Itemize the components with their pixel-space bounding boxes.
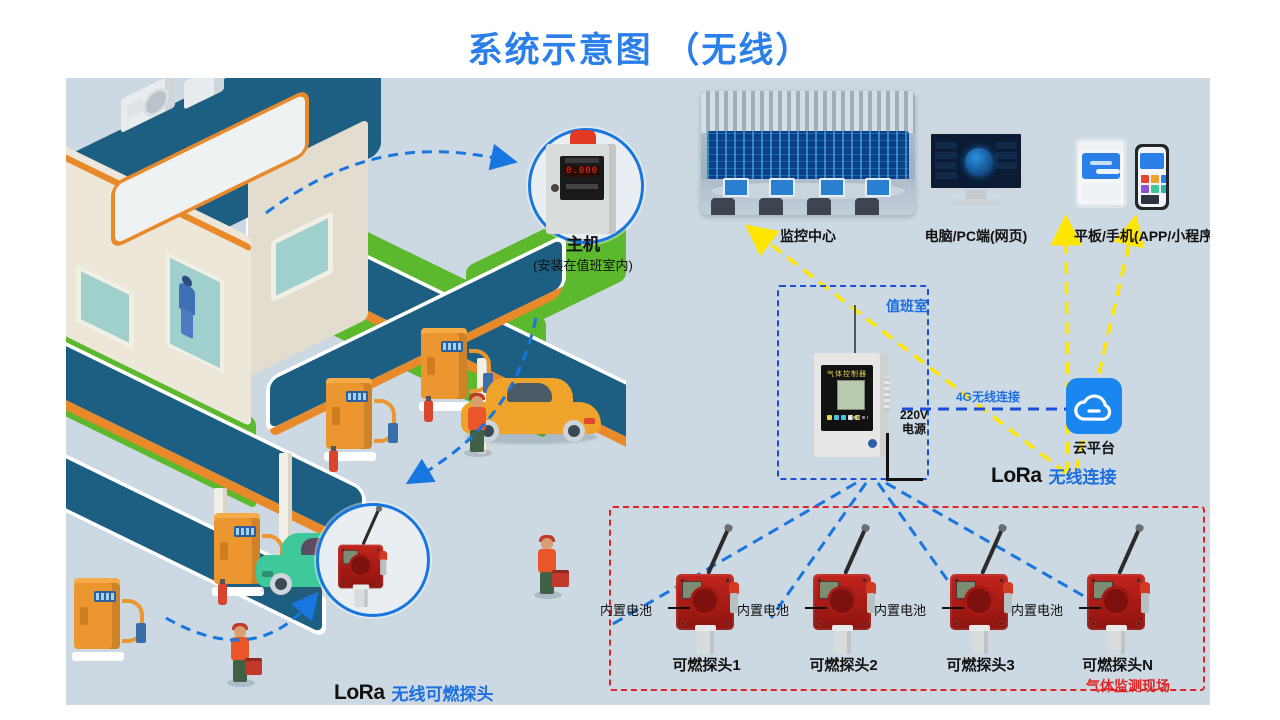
dashboard-card xyxy=(935,162,957,169)
host-panel: 0.000 xyxy=(560,156,604,200)
pump-body xyxy=(326,383,372,449)
detector-enclosure xyxy=(950,574,1008,630)
dashboard-card xyxy=(935,172,957,179)
controller-lcd xyxy=(837,380,865,410)
controller-front-panel: 气体控制器 xyxy=(821,365,873,431)
alarm-beacon-icon xyxy=(570,130,596,145)
technician-walking-bottom xyxy=(229,626,251,682)
lora-link-brand: LoRa xyxy=(991,464,1042,488)
tablet-hero-card xyxy=(1082,153,1120,179)
controller-enclosure: 气体控制器 xyxy=(814,353,888,457)
operator-monitor xyxy=(819,178,845,197)
detector-sensor-ring xyxy=(1101,586,1131,616)
dashboard-card xyxy=(935,152,957,159)
detector-screw xyxy=(1091,578,1096,583)
detector-screw xyxy=(376,581,380,585)
detector-screw xyxy=(680,621,685,626)
operator-chair xyxy=(807,198,831,215)
host-led-display: 0.000 xyxy=(564,166,600,177)
technician-walking-right xyxy=(536,538,558,594)
detector-sensor-ring xyxy=(690,586,720,616)
detector-enclosure xyxy=(1087,574,1145,630)
detector-screw xyxy=(341,581,345,585)
pc-monitor-image xyxy=(928,131,1024,209)
battery-label-3: 内置电池 xyxy=(874,600,926,619)
detector-screw xyxy=(954,578,959,583)
detector-screw xyxy=(680,578,685,583)
detector-1 xyxy=(676,568,738,660)
operator-monitor xyxy=(723,178,749,197)
detector-screw xyxy=(999,621,1004,626)
phone-banner xyxy=(1140,153,1164,169)
power-cable xyxy=(886,433,923,481)
pump-slot xyxy=(427,357,435,375)
detector-sensor-tube xyxy=(971,628,988,654)
pump-body xyxy=(214,518,260,584)
field-detector-lora-mark: LoRa 无线可燃探头 xyxy=(334,680,494,705)
worker-legs xyxy=(470,430,484,452)
app-tile xyxy=(1161,175,1166,183)
monitoring-center-image xyxy=(701,91,915,215)
pump-nozzle xyxy=(388,423,398,443)
pump-base xyxy=(72,652,124,661)
battery-leader-line-2 xyxy=(805,607,827,609)
detector-sensor-tube xyxy=(1108,628,1125,654)
cloud-glyph xyxy=(1073,390,1115,422)
pump-body xyxy=(74,583,120,649)
host-button-row[interactable] xyxy=(566,184,598,189)
site-label: 气体监测现场 xyxy=(1086,676,1170,696)
operator-monitor xyxy=(865,178,891,197)
controller-button-row[interactable] xyxy=(852,416,868,419)
detector-screw xyxy=(1136,621,1141,626)
pump-slot xyxy=(220,542,228,560)
pc-web-label: 电脑/PC端(网页) xyxy=(911,226,1041,246)
detector-enclosure xyxy=(338,545,383,589)
phone-image xyxy=(1135,144,1169,210)
fuel-pump-1 xyxy=(326,383,384,455)
detector-alarm-horn xyxy=(379,551,388,576)
pump-nozzle xyxy=(136,623,146,643)
detector-sensor-ring xyxy=(964,586,994,616)
detector-n-label: 可燃探头N xyxy=(1065,654,1170,675)
arrow-cloud-to-mobile xyxy=(1076,228,1133,471)
ac-vent xyxy=(127,97,143,119)
cloud-platform-icon xyxy=(1066,378,1122,434)
detector-alarm-horn xyxy=(1139,582,1151,614)
detector-screw xyxy=(954,621,959,626)
ceiling-lights xyxy=(701,91,915,133)
detector-3 xyxy=(950,568,1012,660)
detector-screw xyxy=(341,548,345,552)
operator-chair xyxy=(759,198,783,215)
detector-3-label: 可燃探头3 xyxy=(928,654,1033,675)
attendant-at-pump xyxy=(466,396,488,452)
horn-stem xyxy=(1141,593,1149,613)
app-tile xyxy=(1141,185,1149,193)
fire-extinguisher-3 xyxy=(218,583,227,605)
host-sub-label: (安装在值班室内) xyxy=(503,255,663,274)
battery-leader-line-n xyxy=(1079,607,1101,609)
detector-screw xyxy=(1091,621,1096,626)
controller-title: 气体控制器 xyxy=(827,369,867,379)
dashboard-card xyxy=(995,152,1017,159)
host-caption: 主机 (安装在值班室内) xyxy=(503,230,663,274)
fuel-pump-4 xyxy=(74,583,132,655)
power-source: 电源 xyxy=(902,422,926,436)
operator-chair xyxy=(855,198,879,215)
pc-screen xyxy=(928,131,1024,191)
duty-room-label: 值班室 xyxy=(886,296,928,316)
host-controller: 0.000 xyxy=(546,142,622,234)
app-tile xyxy=(1151,185,1159,193)
pump-display xyxy=(94,591,116,602)
pump-display xyxy=(441,341,463,352)
horn-stem xyxy=(380,560,386,576)
pump-display xyxy=(234,526,256,537)
tablet-list-card xyxy=(1082,183,1120,201)
host-enclosure: 0.000 xyxy=(546,144,616,234)
app-tile xyxy=(1151,175,1159,183)
detector-screw xyxy=(817,578,822,583)
battery-leader-line-3 xyxy=(942,607,964,609)
detector-sensor-ring xyxy=(349,554,372,577)
lora-brand-text: LoRa xyxy=(334,681,385,705)
car-taillight xyxy=(584,418,595,424)
dashboard-card xyxy=(995,142,1017,149)
worker-toolbox xyxy=(245,658,262,675)
battery-label-2: 内置电池 xyxy=(737,600,789,619)
diagram-root: 系统示意图 （无线） xyxy=(0,0,1280,720)
app-tile xyxy=(1141,175,1149,183)
detector-sensor-tube xyxy=(354,587,367,607)
battery-label-n: 内置电池 xyxy=(1011,600,1063,619)
detector-screw xyxy=(862,621,867,626)
gas-controller: 气体控制器 xyxy=(814,353,894,457)
detector-2 xyxy=(813,568,875,660)
dashboard-card xyxy=(995,162,1017,169)
controller-vent-fins xyxy=(884,377,890,411)
app-tile xyxy=(1141,195,1159,204)
store-customer xyxy=(178,272,195,340)
battery-label-1: 内置电池 xyxy=(600,600,652,619)
customer-legs xyxy=(181,307,193,339)
video-wall xyxy=(707,131,909,183)
detector-sensor-ring xyxy=(827,586,857,616)
cloud-platform-label: 云平台 xyxy=(1054,438,1134,458)
cloud-link-label: 4G无线连接 xyxy=(956,388,1020,405)
detector-sensor-tube xyxy=(834,628,851,654)
controller-antenna-icon xyxy=(854,305,856,355)
tablet-image xyxy=(1075,138,1127,208)
tablet-phone-label: 平板/手机(APP/小程序) xyxy=(1051,226,1210,246)
tablet-status-bar xyxy=(1078,141,1124,150)
detector-enclosure xyxy=(813,574,871,630)
lora-link-mark: LoRa 无线连接 xyxy=(991,463,1117,488)
pc-globe-icon xyxy=(965,148,993,176)
diagram-canvas: 0.000 主机 (安装在值班室内) xyxy=(66,78,1210,705)
worker-toolbox xyxy=(552,570,569,587)
car-window xyxy=(507,383,552,402)
pump-display xyxy=(346,391,368,402)
fire-extinguisher-2 xyxy=(424,400,433,422)
worker-torso xyxy=(468,407,486,431)
page-title: 系统示意图 （无线） xyxy=(0,22,1280,73)
power-label: 220V 电源 xyxy=(890,408,938,436)
detector-sensor-tube xyxy=(697,628,714,654)
lora-link-label: 无线连接 xyxy=(1049,463,1117,488)
pump-slot xyxy=(332,407,340,425)
battery-leader-line-1 xyxy=(668,607,690,609)
car-wheel-front xyxy=(270,573,292,595)
field-detector-label: 无线可燃探头 xyxy=(392,680,494,705)
power-voltage: 220V xyxy=(900,408,928,422)
car-taillight xyxy=(262,571,273,577)
phone-screen xyxy=(1138,147,1166,207)
car-wheel-rear xyxy=(563,420,585,442)
detector-screw xyxy=(817,621,822,626)
monitoring-center-label: 监控中心 xyxy=(701,226,915,246)
detector-enclosure xyxy=(676,574,734,630)
tablet-footer-card xyxy=(1082,203,1120,208)
operator-chair xyxy=(711,198,735,215)
app-tile xyxy=(1161,185,1166,193)
controller-knob[interactable] xyxy=(868,439,877,448)
operator-monitor xyxy=(769,178,795,197)
fire-extinguisher-1 xyxy=(329,450,338,472)
monitor-stand xyxy=(950,199,1002,205)
detector-2-label: 可燃探头2 xyxy=(791,654,896,675)
pump-slot xyxy=(80,607,88,625)
host-brand-strip xyxy=(565,158,599,163)
dashboard-card xyxy=(935,142,957,149)
detector-screw xyxy=(725,621,730,626)
detector-1-label: 可燃探头1 xyxy=(654,654,759,675)
field-combustible-detector xyxy=(338,540,386,612)
detector-n xyxy=(1087,568,1149,660)
host-label: 主机 xyxy=(503,230,663,255)
host-knob[interactable] xyxy=(551,184,559,192)
